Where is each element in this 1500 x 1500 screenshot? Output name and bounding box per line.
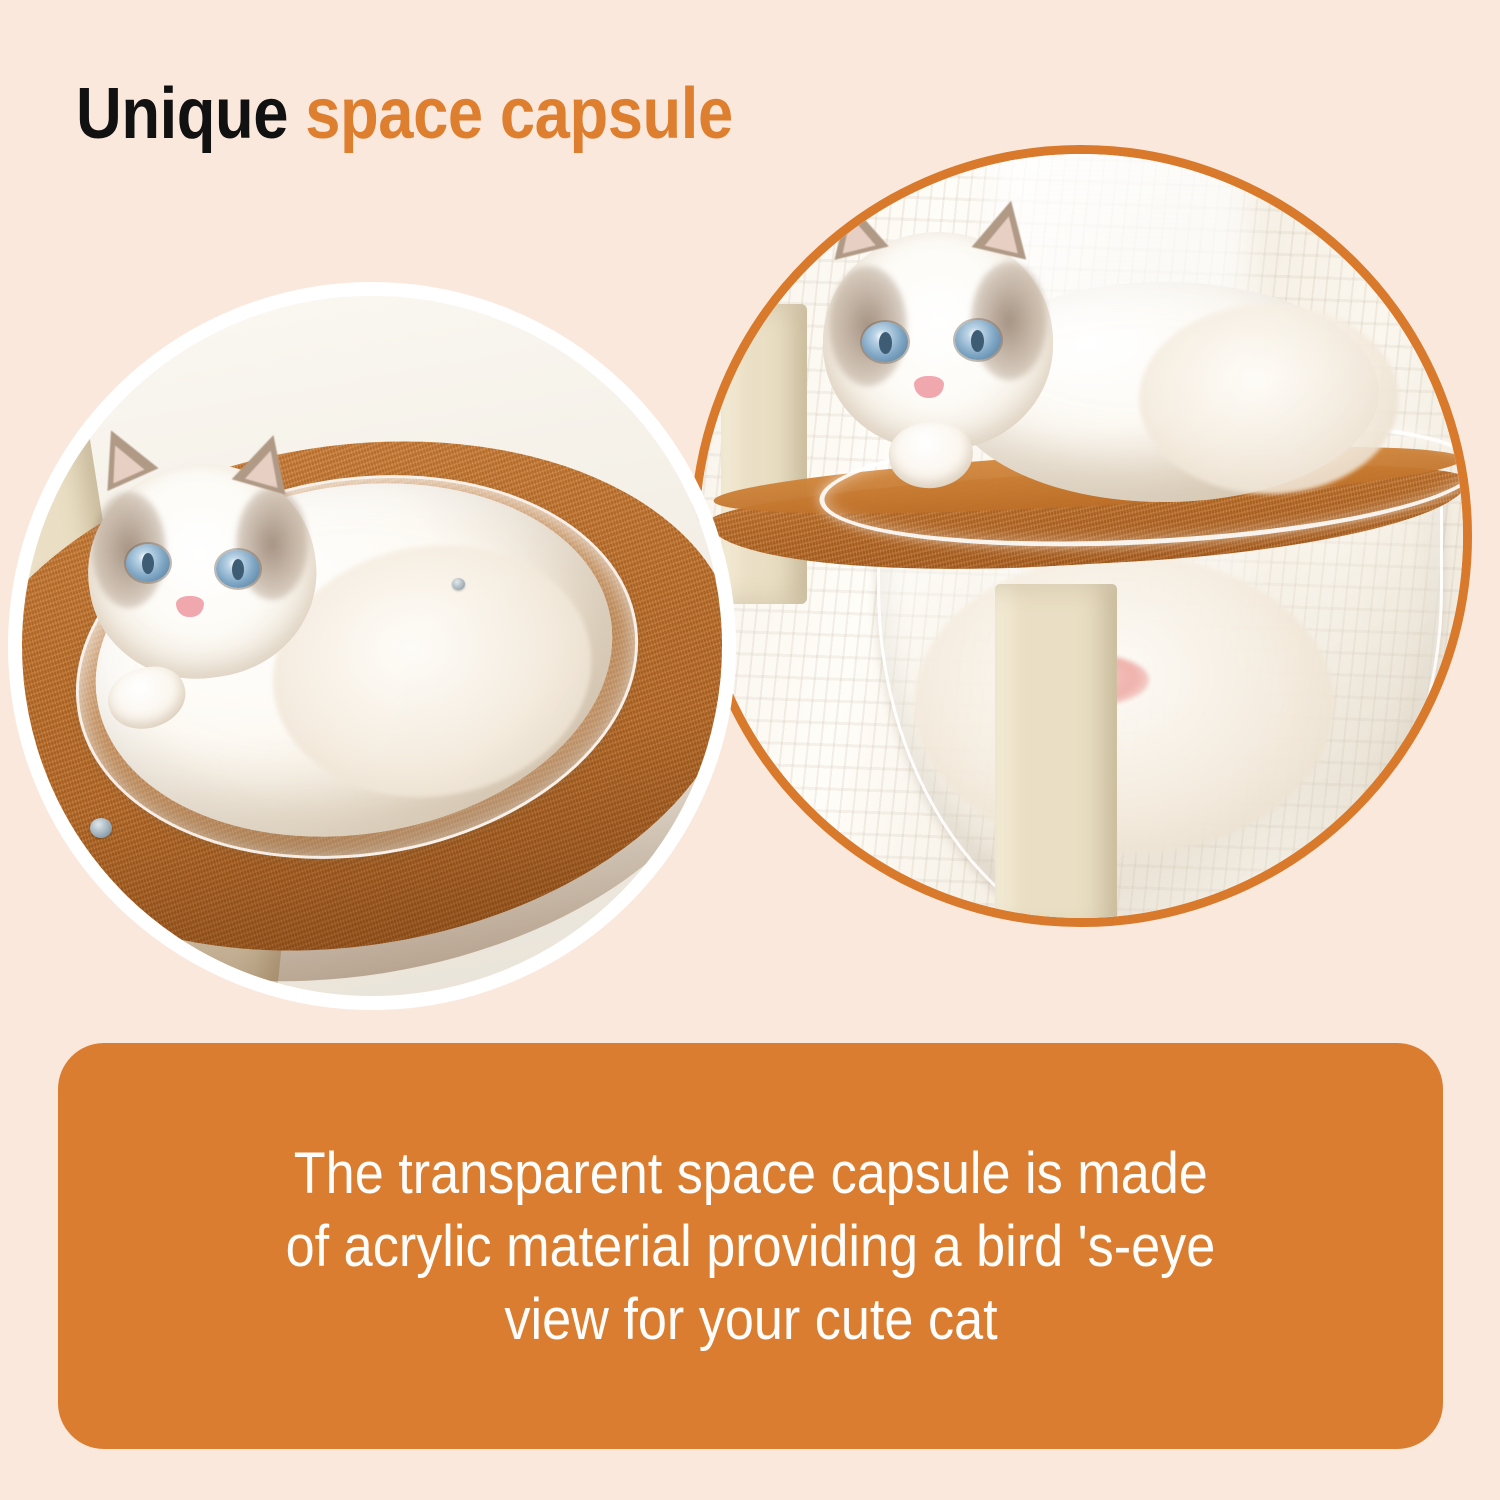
cat-body-through-dome: [914, 554, 1334, 854]
left-photo-scene: [22, 296, 722, 996]
right-photo-circle: [690, 145, 1472, 927]
cat-pupil-left: [142, 553, 154, 574]
page-title-word-unique: Unique: [76, 74, 305, 154]
sisal-scratching-post: [995, 584, 1117, 918]
cat-pupil-right: [232, 559, 244, 580]
left-photo-circle: [8, 282, 736, 1010]
caption-line-3: view for your cute cat: [504, 1283, 997, 1356]
cat-pupil-left: [879, 332, 892, 354]
page-title-word-space-capsule: space capsule: [305, 74, 733, 154]
sisal-post-upper: [721, 304, 807, 604]
cat-back-fluff: [1139, 304, 1399, 494]
cat-pupil-right: [971, 330, 984, 352]
mounting-screw: [90, 818, 112, 838]
bowl-rim-screw: [452, 578, 465, 590]
caption-line-1: The transparent space capsule is made: [293, 1137, 1207, 1210]
page-title: Unique space capsule: [76, 78, 733, 150]
caption-line-2: of acrylic material providing a bird 's-…: [286, 1210, 1216, 1283]
right-photo-scene: [699, 154, 1463, 918]
caption-panel: The transparent space capsule is made of…: [58, 1043, 1443, 1449]
